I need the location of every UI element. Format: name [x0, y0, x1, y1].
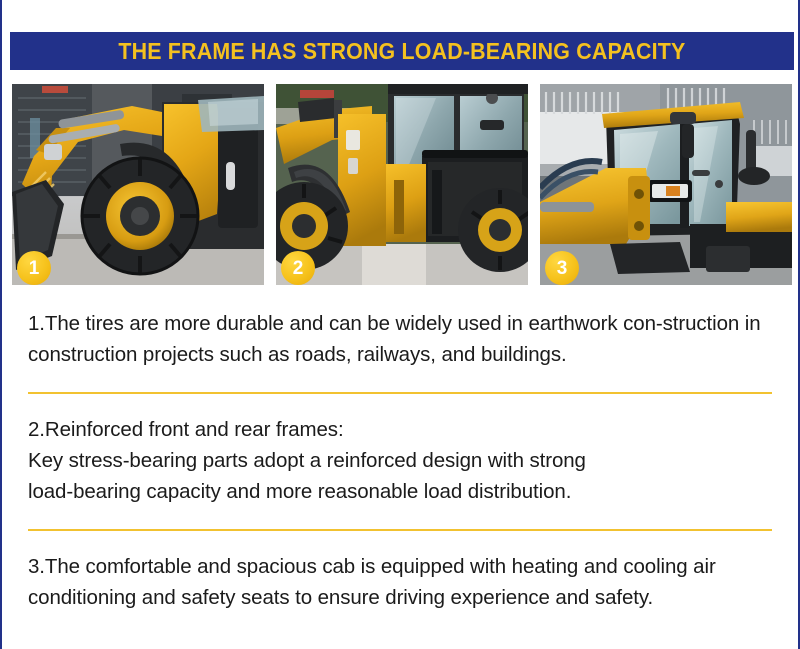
photo-badge-1: 1 — [17, 251, 51, 285]
photo-3-illustration — [540, 84, 792, 285]
product-feature-banner: THE FRAME HAS STRONG LOAD-BEARING CAPACI… — [0, 0, 800, 649]
feature-paragraph-2: 2.Reinforced front and rear frames: Key … — [2, 414, 800, 507]
photo-2-illustration — [276, 84, 528, 285]
feature-paragraph-1: 1.The tires are more durable and can be … — [2, 298, 800, 370]
photo-reinforced-frame: 2 — [276, 84, 528, 285]
divider-1 — [28, 392, 772, 394]
body-text-area: 1.The tires are more durable and can be … — [2, 298, 800, 613]
photo-front-loader-tire: 1 — [12, 84, 264, 285]
photo-badge-3: 3 — [545, 251, 579, 285]
photo-1-illustration — [12, 84, 264, 285]
divider-2 — [28, 529, 772, 531]
feature-paragraph-3: 3.The comfortable and spacious cab is eq… — [2, 551, 800, 613]
photo-strip: 1 — [12, 84, 792, 285]
photo-badge-2: 2 — [281, 251, 315, 285]
page-title: THE FRAME HAS STRONG LOAD-BEARING CAPACI… — [118, 38, 685, 65]
photo-operator-cab: 3 — [540, 84, 792, 285]
banner-title-bar: THE FRAME HAS STRONG LOAD-BEARING CAPACI… — [10, 32, 794, 70]
